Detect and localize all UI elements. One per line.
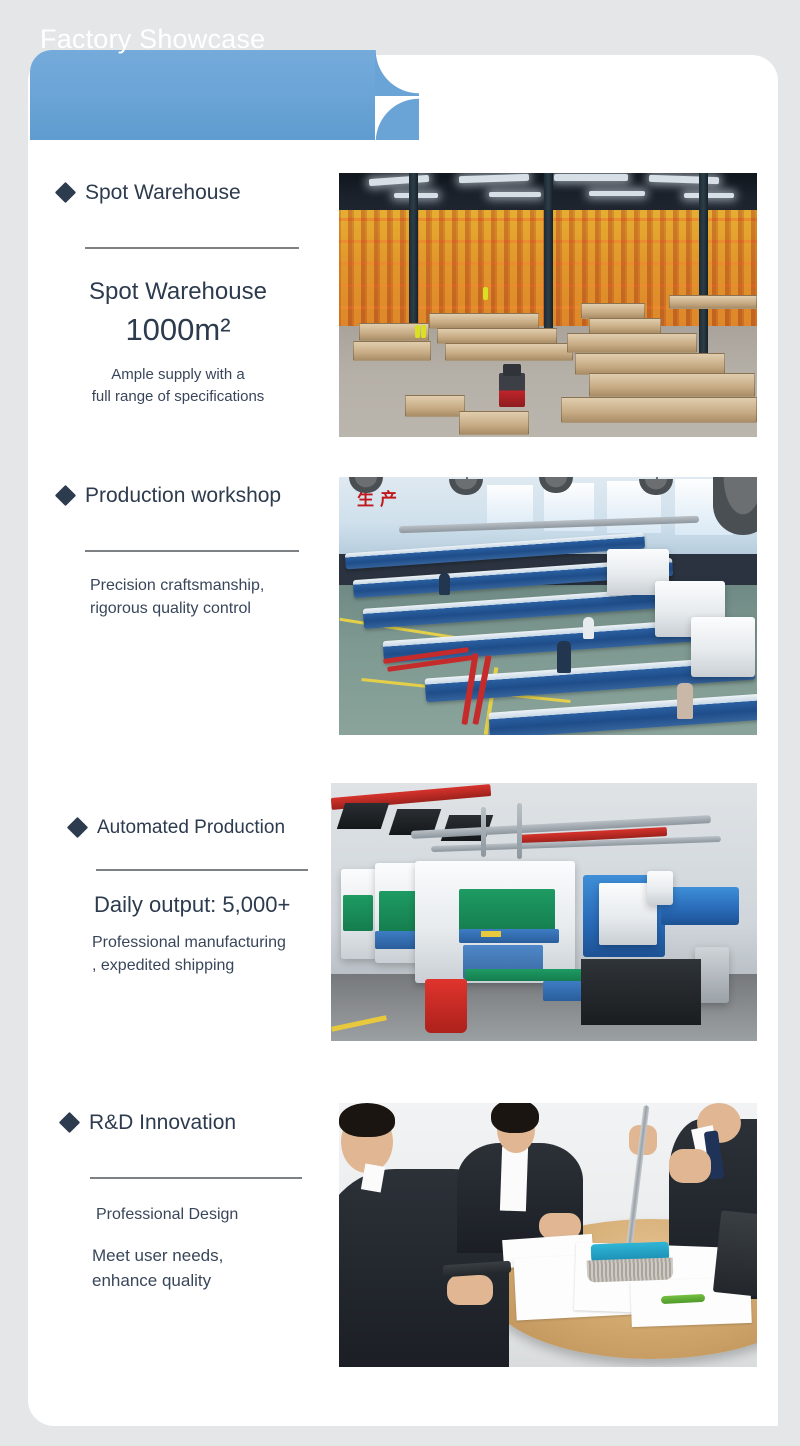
section-4-title: R&D Innovation: [89, 1112, 236, 1133]
section-3-headline: Daily output: 5,000+: [94, 891, 344, 919]
warehouse-photo-art: [339, 173, 757, 437]
section-1-title: Spot Warehouse: [85, 182, 241, 203]
automated-production-photo-art: [331, 783, 757, 1041]
section-1-metric: 1000m²: [58, 311, 298, 348]
section-1-headline: Spot Warehouse: [58, 277, 298, 308]
diamond-bullet-icon: [67, 817, 88, 838]
section-1-desc-line-2: full range of specifications: [58, 386, 298, 408]
section-2-desc-line-1: Precision craftsmanship,: [90, 574, 318, 597]
section-3-divider: [96, 869, 308, 871]
section-4-headline: Professional Design: [96, 1203, 336, 1226]
page-title: Factory Showcase: [40, 24, 265, 55]
section-4-desc-line-1: Meet user needs,: [92, 1244, 332, 1269]
section-4-title-row: R&D Innovation: [62, 1112, 332, 1133]
section-rd-innovation: R&D Innovation Professional Design Meet …: [62, 1112, 332, 1293]
diamond-bullet-icon: [59, 1112, 80, 1133]
section-2-title-row: Production workshop: [58, 485, 320, 506]
section-1-title-row: Spot Warehouse: [58, 182, 320, 203]
section-1-divider: [85, 247, 299, 249]
section-3-desc-line-1: Professional manufacturing: [92, 931, 344, 954]
rd-innovation-photo: [339, 1103, 757, 1367]
header-tab: [30, 50, 375, 140]
section-3-title: Automated Production: [97, 818, 285, 837]
section-3-desc-line-2: , expedited shipping: [92, 954, 344, 977]
section-2-desc-line-2: rigorous quality control: [90, 597, 318, 620]
workshop-photo-art: 生产: [339, 477, 757, 735]
section-4-desc-line-2: enhance quality: [92, 1269, 332, 1294]
section-1-desc-line-1: Ample supply with a: [58, 364, 298, 386]
section-2-divider: [85, 550, 299, 552]
automated-production-photo: [331, 783, 757, 1041]
diamond-bullet-icon: [55, 485, 76, 506]
section-4-divider: [90, 1177, 302, 1179]
section-3-title-row: Automated Production: [70, 818, 340, 837]
section-2-title: Production workshop: [85, 485, 281, 506]
diamond-bullet-icon: [55, 182, 76, 203]
warehouse-photo: [339, 173, 757, 437]
section-production-workshop: Production workshop Precision craftsmans…: [58, 485, 320, 620]
workshop-photo: 生产: [339, 477, 757, 735]
section-automated-production: Automated Production Daily output: 5,000…: [70, 818, 340, 978]
rd-innovation-photo-art: [339, 1103, 757, 1367]
section-spot-warehouse: Spot Warehouse Spot Warehouse 1000m² Amp…: [58, 182, 320, 407]
factory-showcase-page: Factory Showcase Spot Warehouse Spot War…: [0, 0, 800, 1446]
